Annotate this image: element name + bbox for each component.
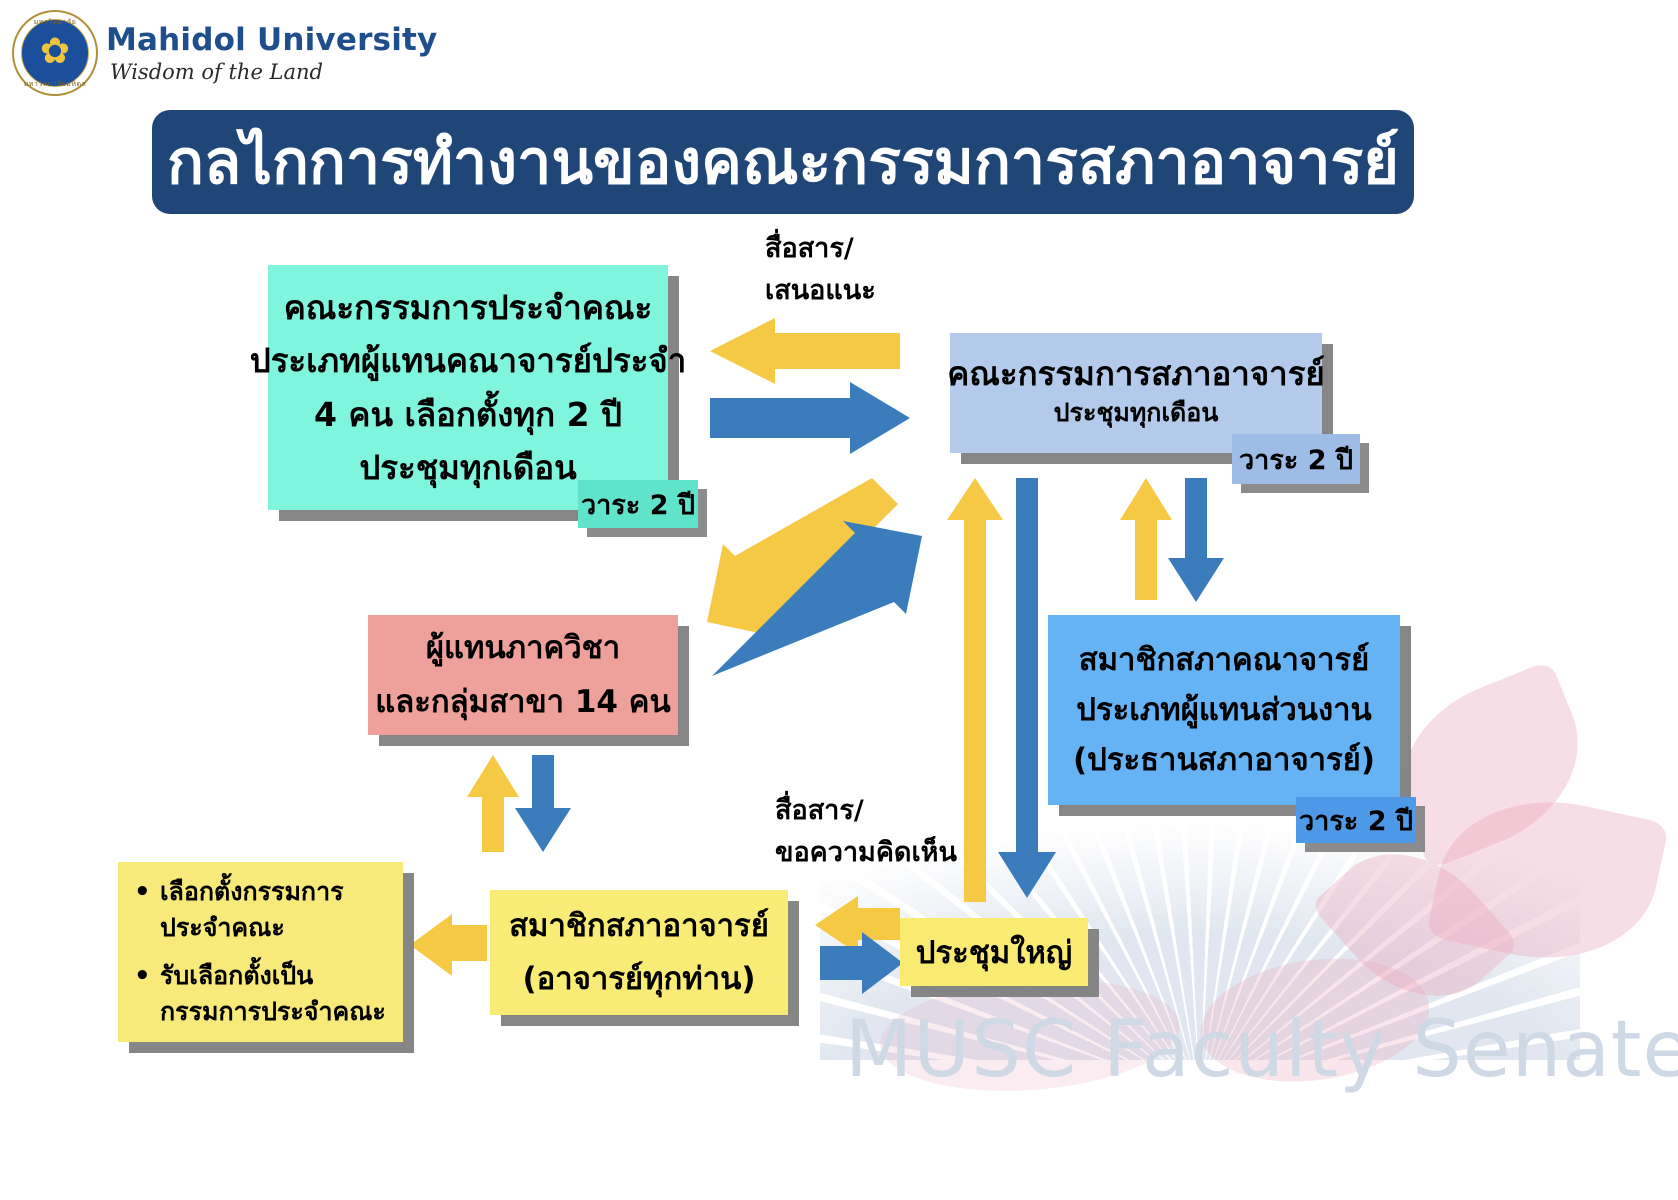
node-line: ประเภทผู้แทนส่วนงาน bbox=[1076, 685, 1371, 735]
list-item: • รับเลือกตั้งเป็นกรรมการประจำคณะ bbox=[134, 958, 395, 1031]
mahidol-seal-icon: ✿ มหาวิทยาลัย มหาวิทยาลัยมหิดล bbox=[12, 10, 98, 96]
page-title: กลไกการทำงานของคณะกรรมการสภาอาจารย์ bbox=[167, 132, 1399, 193]
arrow-blue-right-top bbox=[710, 382, 910, 454]
brand-logo: ✿ มหาวิทยาลัย มหาวิทยาลัยมหิดล Mahidol U… bbox=[8, 8, 388, 98]
seal-ring: ✿ bbox=[21, 19, 89, 87]
arrow-blue-down-dept bbox=[515, 755, 571, 852]
node-senate-members-all-lecturers[interactable]: สมาชิกสภาอาจารย์ (อาจารย์ทุกท่าน) bbox=[490, 890, 788, 1015]
arrow-yellow-left-assembly bbox=[815, 896, 900, 954]
node-line: (อาจารย์ทุกท่าน) bbox=[523, 953, 756, 1006]
node-subtitle: ประชุมทุกเดือน bbox=[1054, 394, 1219, 432]
watermark-petal-icon bbox=[1310, 818, 1520, 1031]
seal-top-text: มหาวิทยาลัย bbox=[14, 17, 96, 28]
node-line: สมาชิกสภาอาจารย์ bbox=[509, 900, 769, 953]
arrow-blue-right-assembly bbox=[820, 932, 903, 994]
node-general-assembly[interactable]: ประชุมใหญ่ bbox=[900, 918, 1088, 986]
label-line: ขอความคิดเห็น bbox=[775, 832, 957, 874]
label-line: สื่อสาร/ bbox=[775, 790, 957, 832]
arrow-blue-diagonal-up-right bbox=[712, 521, 922, 676]
university-name: Mahidol University bbox=[106, 22, 437, 58]
node-line: ผู้แทนภาควิชา bbox=[426, 621, 620, 675]
watermark-petal-icon bbox=[1426, 779, 1670, 980]
node-line: 4 คน เลือกตั้งทุก 2 ปี bbox=[314, 388, 622, 441]
title-banner: กลไกการทำงานของคณะกรรมการสภาอาจารย์ bbox=[152, 110, 1414, 214]
node-line: (ประธานสภาอาจารย์) bbox=[1073, 735, 1375, 785]
label-line: เสนอแนะ bbox=[765, 270, 876, 312]
node-senate-member-unit-representative[interactable]: สมาชิกสภาคณาจารย์ ประเภทผู้แทนส่วนงาน (ป… bbox=[1048, 615, 1400, 805]
arrow-yellow-diagonal-down-left bbox=[707, 478, 898, 639]
list-item: • เลือกตั้งกรรมการประจำคณะ bbox=[134, 874, 395, 947]
watermark-text: MUSC Faculty Senate bbox=[845, 1005, 1678, 1095]
badge-term-faculty-committee: วาระ 2 ปี bbox=[578, 480, 698, 528]
watermark-petal-icon bbox=[1193, 945, 1437, 1096]
label-line: สื่อสาร/ bbox=[765, 228, 876, 270]
slide-canvas: MUSC Faculty Senate ✿ มหาวิทยาลัย มหาวิท… bbox=[0, 0, 1678, 1200]
seal-emblem-icon: ✿ bbox=[40, 34, 70, 70]
arrow-yellow-up-dept bbox=[467, 755, 519, 852]
node-duties-bullet-list[interactable]: • เลือกตั้งกรรมการประจำคณะ • รับเลือกตั้… bbox=[118, 862, 403, 1042]
bullet-dot-icon: • bbox=[134, 958, 160, 996]
arrow-yellow-left-bullets bbox=[410, 914, 487, 976]
node-department-representatives[interactable]: ผู้แทนภาควิชา และกลุ่มสาขา 14 คน bbox=[368, 615, 678, 735]
list-item-label: รับเลือกตั้งเป็นกรรมการประจำคณะ bbox=[160, 958, 395, 1031]
badge-term-senate-committee: วาระ 2 ปี bbox=[1232, 434, 1360, 484]
seal-bottom-text: มหาวิทยาลัยมหิดล bbox=[14, 79, 96, 90]
arrow-yellow-left-top bbox=[710, 318, 900, 384]
node-line: ประชุมใหญ่ bbox=[916, 927, 1072, 977]
node-line: ประเภทผู้แทนคณาจารย์ประจำ bbox=[250, 334, 687, 387]
watermark-petal-icon bbox=[877, 970, 1184, 1101]
arrow-yellow-up-inner bbox=[1120, 478, 1172, 600]
label-communicate-suggest: สื่อสาร/ เสนอแนะ bbox=[765, 228, 876, 312]
arrow-blue-down-inner bbox=[1168, 478, 1224, 602]
node-faculty-committee[interactable]: คณะกรรมการประจำคณะ ประเภทผู้แทนคณาจารย์ป… bbox=[268, 265, 668, 510]
bullet-dot-icon: • bbox=[134, 874, 160, 912]
node-line: ประชุมทุกเดือน bbox=[359, 441, 576, 494]
list-item-label: เลือกตั้งกรรมการประจำคณะ bbox=[160, 874, 395, 947]
node-title: คณะกรรมการสภาอาจารย์ bbox=[947, 354, 1325, 394]
node-line: สมาชิกสภาคณาจารย์ bbox=[1079, 635, 1370, 685]
label-communicate-opinion: สื่อสาร/ ขอความคิดเห็น bbox=[775, 790, 957, 874]
node-line: และกลุ่มสาขา 14 คน bbox=[375, 675, 670, 729]
badge-term-senate-member-unit: วาระ 2 ปี bbox=[1296, 797, 1416, 843]
node-line: คณะกรรมการประจำคณะ bbox=[284, 281, 653, 334]
university-tagline: Wisdom of the Land bbox=[110, 60, 323, 84]
